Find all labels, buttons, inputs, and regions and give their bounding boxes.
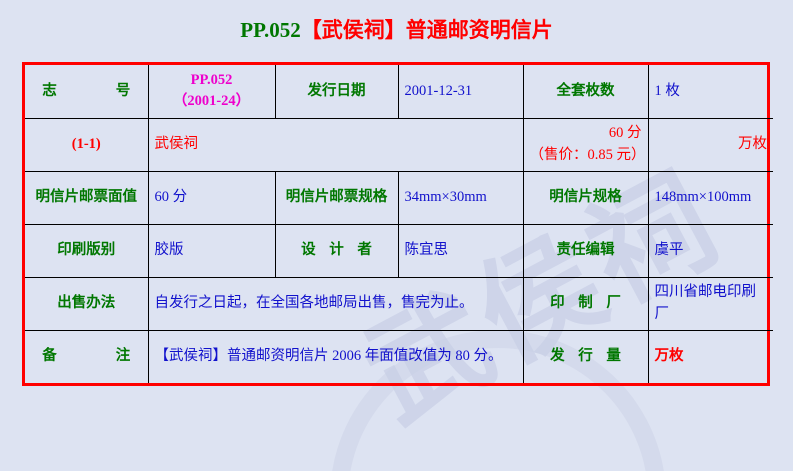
value-zhihao: PP.052 （2001-24） <box>148 65 275 118</box>
value-card-size: 148mm×100mm <box>648 171 773 224</box>
label-stamp-size: 明信片邮票规格 <box>275 171 398 224</box>
label-sale-method: 出售办法 <box>25 277 148 330</box>
table-row: 印刷版别 胶版 设 计 者 陈宜思 责任编辑 虞平 <box>25 224 773 277</box>
label-designer: 设 计 者 <box>275 224 398 277</box>
value-issue-date: 2001-12-31 <box>398 65 523 118</box>
table-row: 备 注 【武侯祠】普通邮资明信片 2006 年面值改值为 80 分。 发 行 量… <box>25 330 773 383</box>
value-remark: 【武侯祠】普通邮资明信片 2006 年面值改值为 80 分。 <box>148 330 523 383</box>
page-title-name: 【武侯祠】普通邮资明信片 <box>301 18 553 42</box>
value-printer: 四川省邮电印刷厂 <box>648 277 773 330</box>
table-row: 出售办法 自发行之日起，在全国各地邮局出售，售完为止。 印 制 厂 四川省邮电印… <box>25 277 773 330</box>
value-set-count: 1 枚 <box>648 65 773 118</box>
label-stamp-face-value: 明信片邮票面值 <box>25 171 148 224</box>
value-sale-method: 自发行之日起，在全国各地邮局出售，售完为止。 <box>148 277 523 330</box>
value-stamp-face-value: 60 分 <box>148 171 275 224</box>
spec-sheet: 志 号 PP.052 （2001-24） 发行日期 2001-12-31 全套枚… <box>22 62 770 386</box>
table-row: 志 号 PP.052 （2001-24） 发行日期 2001-12-31 全套枚… <box>25 65 773 118</box>
value-zhihao-line2: （2001-24） <box>155 91 269 112</box>
value-item-subject: 武侯祠 <box>148 118 523 171</box>
value-stamp-size: 34mm×30mm <box>398 171 523 224</box>
value-item-index: (1-1) <box>25 118 148 171</box>
value-editor: 虞平 <box>648 224 773 277</box>
label-issue-quantity: 发 行 量 <box>523 330 648 383</box>
label-set-count: 全套枚数 <box>523 65 648 118</box>
spec-table: 志 号 PP.052 （2001-24） 发行日期 2001-12-31 全套枚… <box>25 65 773 383</box>
label-card-size: 明信片规格 <box>523 171 648 224</box>
value-item-quantity: 万枚 <box>648 118 773 171</box>
label-printing-method: 印刷版别 <box>25 224 148 277</box>
value-zhihao-line1: PP.052 <box>155 70 269 91</box>
value-issue-quantity: 万枚 <box>648 330 773 383</box>
table-row: (1-1) 武侯祠 60 分 （售价：0.85 元） 万枚 <box>25 118 773 171</box>
table-row: 明信片邮票面值 60 分 明信片邮票规格 34mm×30mm 明信片规格 148… <box>25 171 773 224</box>
page-title: PP.052【武侯祠】普通邮资明信片 <box>0 14 793 44</box>
label-editor: 责任编辑 <box>523 224 648 277</box>
label-zhihao: 志 号 <box>25 65 148 118</box>
value-designer: 陈宜思 <box>398 224 523 277</box>
value-item-denomination: 60 分 （售价：0.85 元） <box>523 118 648 171</box>
label-issue-date: 发行日期 <box>275 65 398 118</box>
page-title-code: PP.052 <box>240 18 300 42</box>
label-printer: 印 制 厂 <box>523 277 648 330</box>
value-printing-method: 胶版 <box>148 224 275 277</box>
value-denomination-line1: 60 分 <box>530 123 642 144</box>
value-denomination-line2: （售价：0.85 元） <box>530 145 642 166</box>
label-remark: 备 注 <box>25 330 148 383</box>
